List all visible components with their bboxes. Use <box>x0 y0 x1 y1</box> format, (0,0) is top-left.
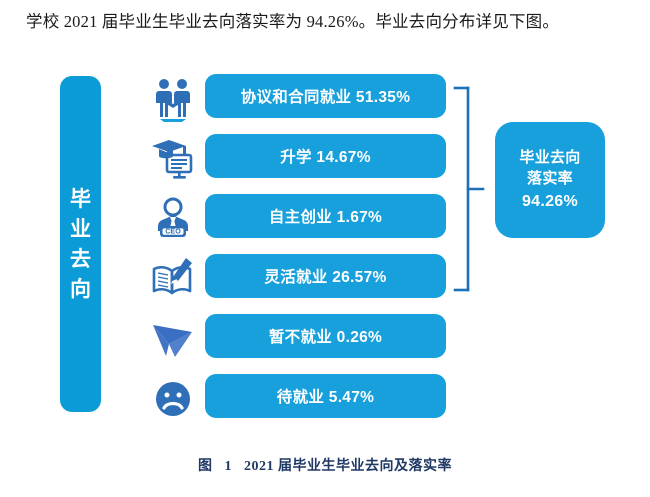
bar-label-4: 灵活就业 26.57% <box>264 265 386 287</box>
category-panel-char-1: 毕 <box>70 189 91 210</box>
caption-number: 1 <box>225 459 233 474</box>
svg-text:CEO: CEO <box>165 227 181 236</box>
category-panel-char-2: 业 <box>70 219 91 240</box>
paper-plane-icon <box>148 314 198 364</box>
caption-title: 2021 届毕业生毕业去向及落实率 <box>244 459 452 474</box>
ceo-badge-icon: CEO <box>148 194 198 244</box>
summary-box: 毕业去向 落实率 94.26% <box>495 122 605 238</box>
bar-label-3: 自主创业 1.67% <box>269 205 382 227</box>
caption-label: 图 <box>198 459 213 474</box>
bar-row-2[interactable]: 升学 14.67% <box>205 134 446 178</box>
category-panel: 毕 业 去 向 <box>60 76 101 412</box>
graduation-cap-monitor-icon <box>148 134 198 184</box>
book-pencil-icon <box>148 254 198 304</box>
bar-row-6[interactable]: 待就业 5.47% <box>205 374 446 418</box>
figure-graphic: 毕 业 去 向 协议和合同就业 51.35% <box>0 52 650 442</box>
bar-label-6: 待就业 5.47% <box>277 385 374 407</box>
summary-line-2: 落实率 <box>527 171 573 188</box>
bar-label-1: 协议和合同就业 51.35% <box>241 85 411 107</box>
bar-label-5: 暂不就业 0.26% <box>269 325 382 347</box>
bar-row-5[interactable]: 暂不就业 0.26% <box>205 314 446 358</box>
bar-row-3[interactable]: 自主创业 1.67% <box>205 194 446 238</box>
bar-row-4[interactable]: 灵活就业 26.57% <box>205 254 446 298</box>
summary-value: 94.26% <box>522 193 578 211</box>
bar-row-1[interactable]: 协议和合同就业 51.35% <box>205 74 446 118</box>
intro-paragraph: 学校 2021 届毕业生毕业去向落实率为 94.26%。毕业去向分布详见下图。 <box>26 10 630 34</box>
category-panel-label: 毕 业 去 向 <box>60 76 101 412</box>
category-panel-char-4: 向 <box>70 279 91 300</box>
brace-connector <box>452 82 486 296</box>
figure-caption: 图12021 届毕业生毕业去向及落实率 <box>0 455 650 475</box>
sad-face-icon <box>148 374 198 424</box>
summary-line-1: 毕业去向 <box>519 150 580 167</box>
category-panel-char-3: 去 <box>70 249 91 270</box>
handshake-icon <box>148 74 198 124</box>
bar-label-2: 升学 14.67% <box>280 145 371 167</box>
